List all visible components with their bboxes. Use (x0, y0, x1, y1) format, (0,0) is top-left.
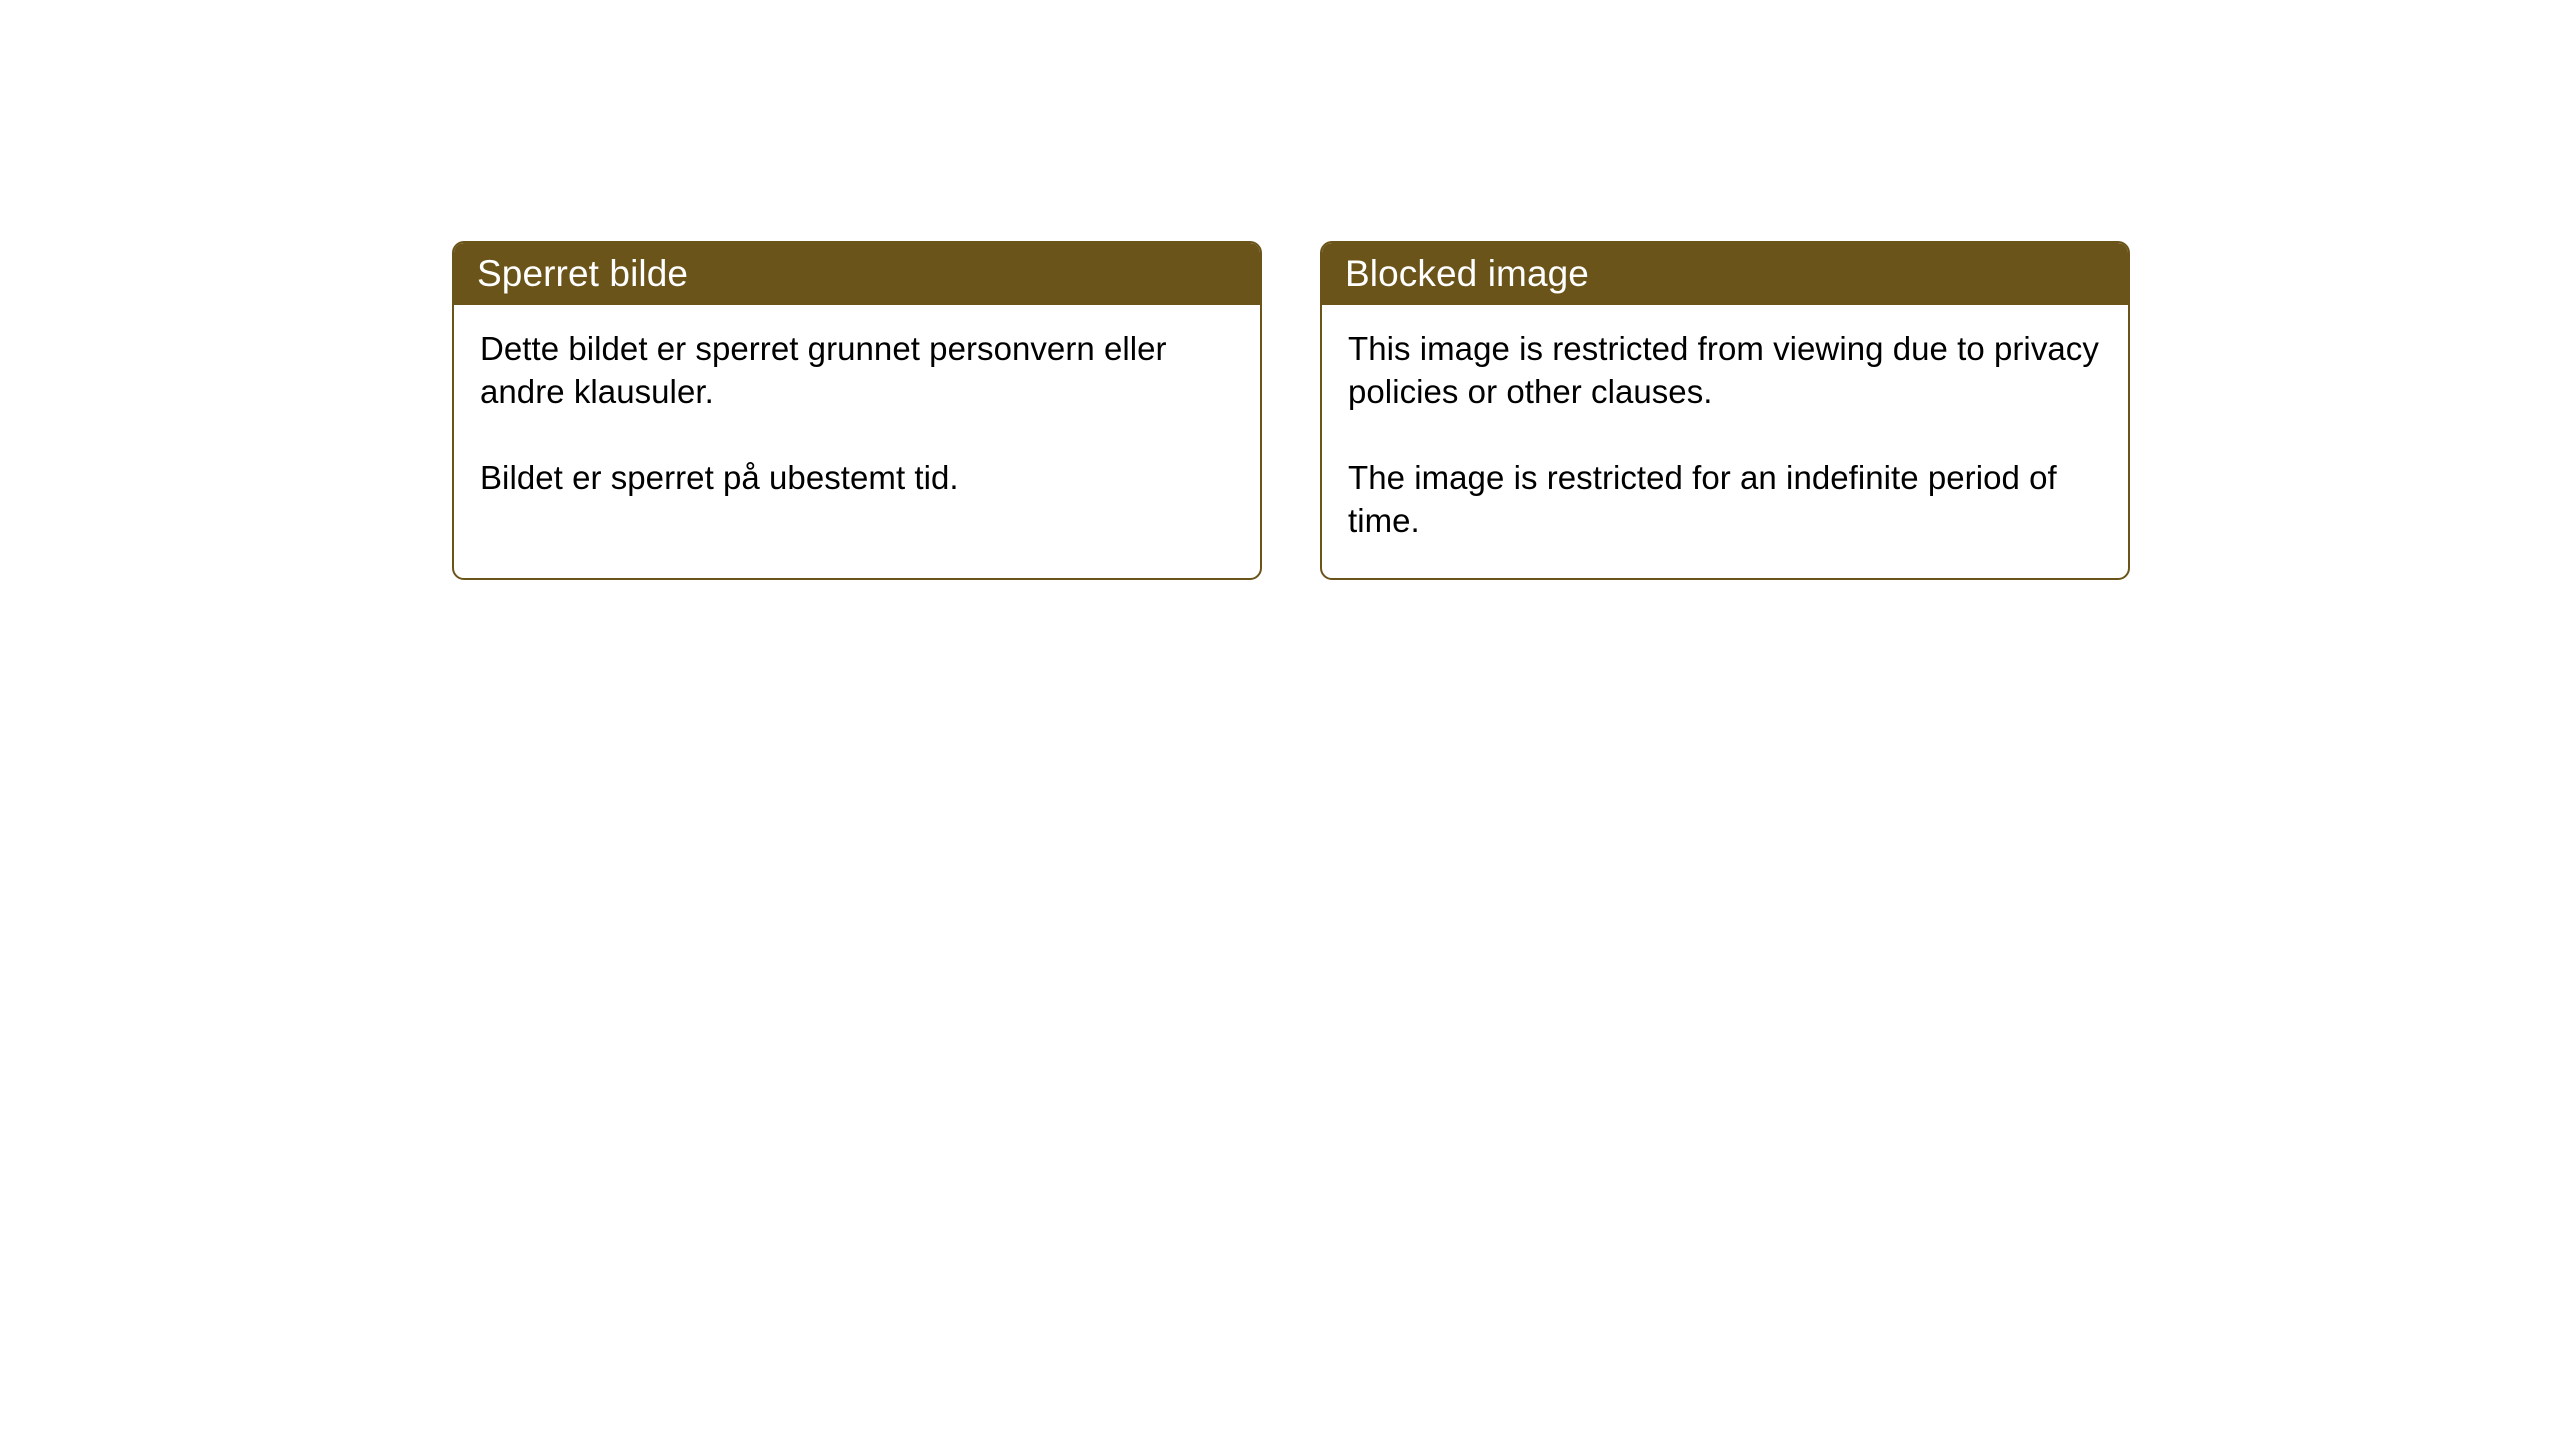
card-body: Dette bildet er sperret grunnet personve… (454, 305, 1260, 578)
page-canvas: Sperret bilde Dette bildet er sperret gr… (0, 0, 2560, 1440)
card-body: This image is restricted from viewing du… (1322, 305, 2128, 578)
card-paragraph-primary: Dette bildet er sperret grunnet personve… (480, 327, 1234, 413)
blocked-image-notice-card-english: Blocked image This image is restricted f… (1320, 241, 2130, 580)
blocked-image-notice-card-norwegian: Sperret bilde Dette bildet er sperret gr… (452, 241, 1262, 580)
card-paragraph-secondary: The image is restricted for an indefinit… (1348, 456, 2102, 542)
card-paragraph-secondary: Bildet er sperret på ubestemt tid. (480, 456, 1234, 499)
card-header-bar: Sperret bilde (452, 241, 1262, 305)
card-paragraph-primary: This image is restricted from viewing du… (1348, 327, 2102, 413)
card-title: Sperret bilde (452, 255, 688, 292)
card-header-bar: Blocked image (1320, 241, 2130, 305)
card-title: Blocked image (1320, 255, 1589, 292)
